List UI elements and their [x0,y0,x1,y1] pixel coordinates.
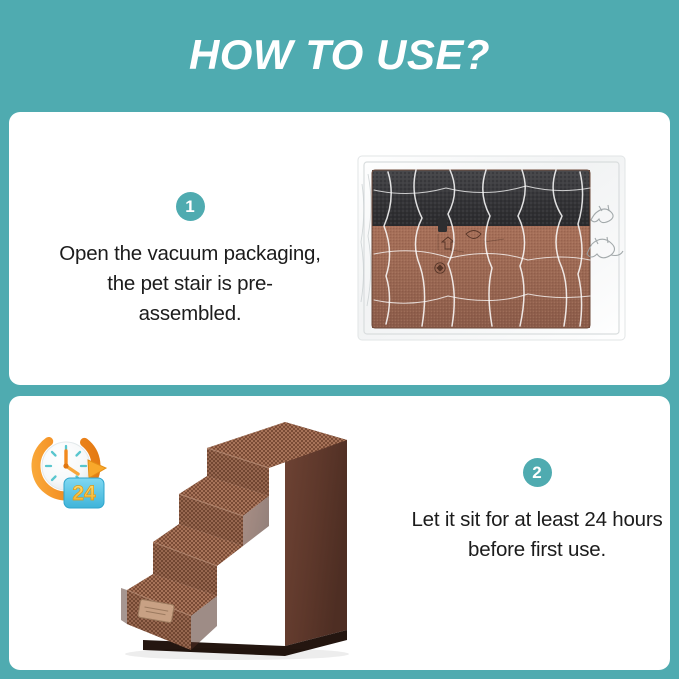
page-title: HOW TO USE? [0,30,679,80]
step-number-badge-1: 1 [176,192,205,221]
step-card-2: 24 [9,396,670,670]
vacuum-pack-image [354,150,629,350]
pet-stair-image [57,404,367,662]
step-2-description: Let it sit for at least 24 hours before … [406,505,668,565]
infographic-page: HOW TO USE? 1 Open the vacuum packaging,… [0,0,679,679]
step-2-text-block: 2 Let it sit for at least 24 hours befor… [406,458,668,565]
step-1-text-block: 1 Open the vacuum packaging, the pet sta… [57,192,323,329]
step-card-1: 1 Open the vacuum packaging, the pet sta… [9,112,670,385]
step-1-description: Open the vacuum packaging, the pet stair… [57,239,323,329]
step-number-badge-2: 2 [523,458,552,487]
